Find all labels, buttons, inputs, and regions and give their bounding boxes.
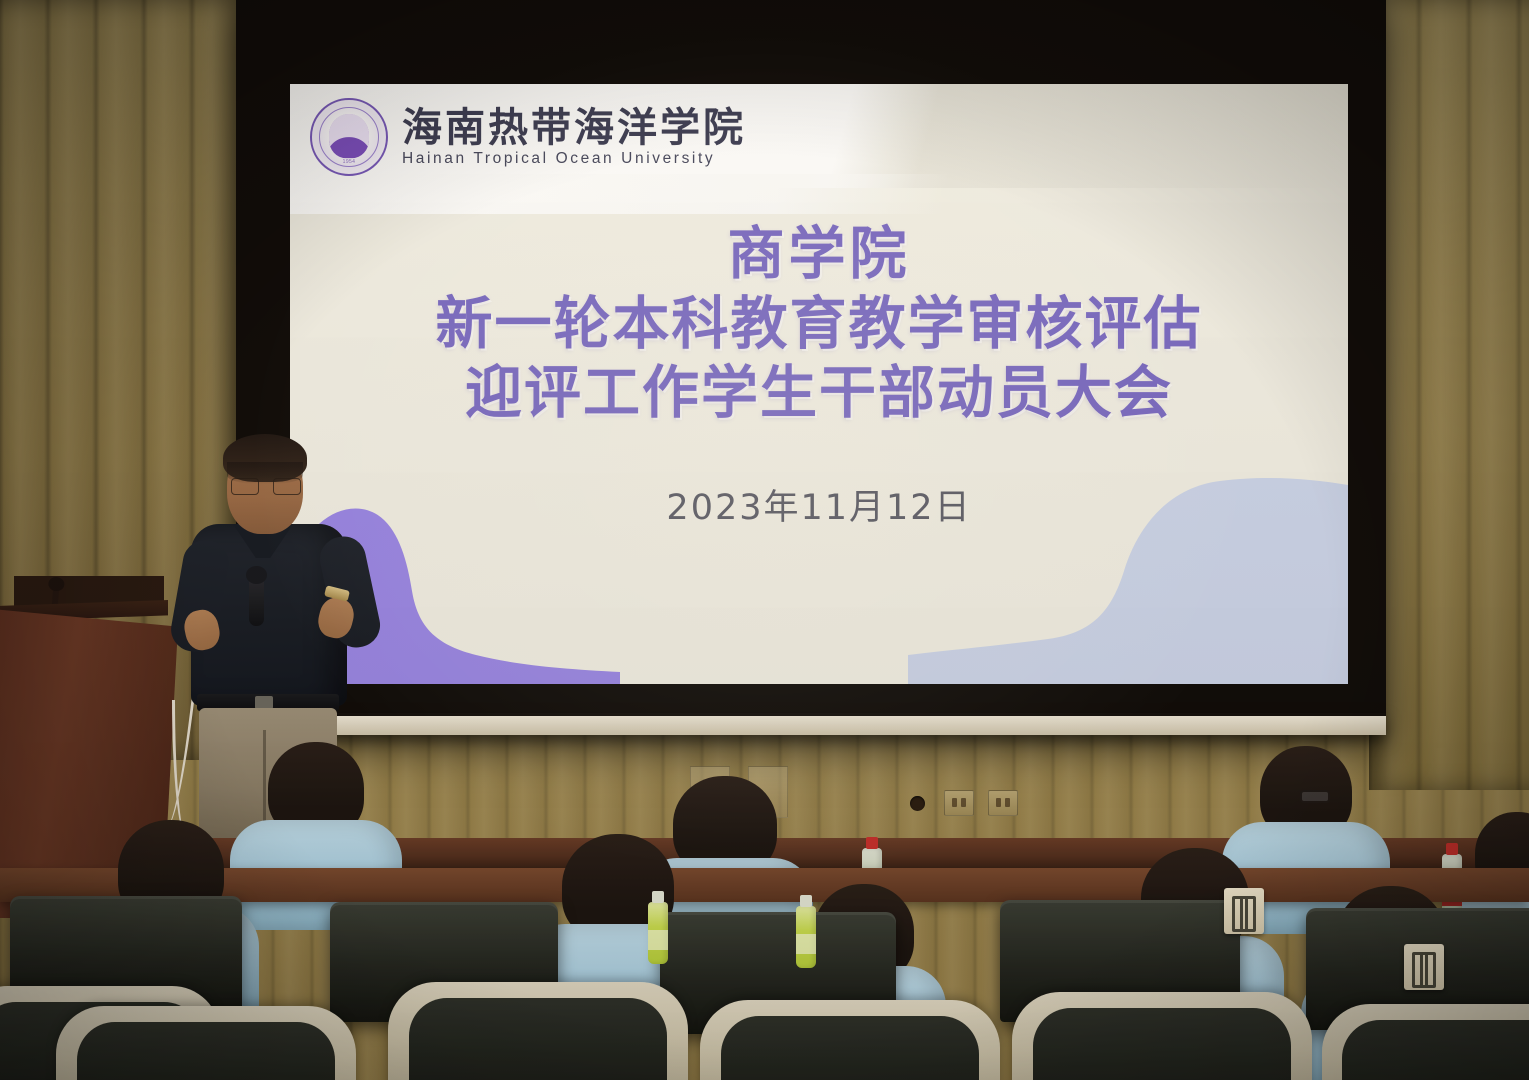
university-logo-lockup: 1954 海南热带海洋学院 Hainan Tropical Ocean Univ…: [310, 98, 746, 176]
wall-outlet: [944, 790, 974, 816]
foreground-chair: [388, 982, 688, 1080]
foreground-chair: [700, 1000, 1000, 1080]
seal-year: 1954: [343, 159, 356, 165]
slide-title-line-1: 商学院: [290, 220, 1348, 290]
projection-screen-bottom-rail: [236, 713, 1386, 735]
university-seal-icon: 1954: [310, 98, 388, 176]
audience-person: [236, 742, 396, 882]
projection-screen-canvas: 1954 海南热带海洋学院 Hainan Tropical Ocean Univ…: [290, 84, 1348, 684]
university-name-en: Hainan Tropical Ocean University: [402, 150, 746, 168]
slide-title-line-3: 迎评工作学生干部动员大会: [290, 359, 1348, 429]
green-tea-bottle: [648, 902, 668, 964]
foreground-chair: [1012, 992, 1312, 1080]
eyeglasses-icon: [230, 478, 302, 493]
handheld-microphone-icon: [249, 576, 264, 626]
wall-hole: [910, 796, 925, 811]
slide-title-block: 商学院 新一轮本科教育教学审核评估 迎评工作学生干部动员大会: [290, 220, 1348, 429]
foreground-chair: [56, 1006, 356, 1080]
projection-screen-frame: 1954 海南热带海洋学院 Hainan Tropical Ocean Univ…: [236, 0, 1386, 734]
slide-title-line-2: 新一轮本科教育教学审核评估: [290, 290, 1348, 360]
seat-number-tag: [1224, 888, 1264, 934]
slide-date: 2023年11月12日: [290, 479, 1348, 530]
green-tea-bottle: [796, 906, 816, 968]
university-name-cn: 海南热带海洋学院: [402, 107, 746, 149]
university-name-block: 海南热带海洋学院 Hainan Tropical Ocean Universit…: [402, 107, 746, 168]
wall-outlet: [988, 790, 1018, 816]
photo-scene: 1954 海南热带海洋学院 Hainan Tropical Ocean Univ…: [0, 0, 1529, 1080]
bottle-label: [796, 934, 816, 954]
bottle-label: [648, 930, 668, 950]
speaker-hair: [223, 434, 307, 482]
seat-number-tag: [1404, 944, 1444, 990]
right-wall: [1369, 0, 1529, 790]
eyeglasses-icon: [1300, 790, 1330, 803]
foreground-chair: [1322, 1004, 1529, 1080]
seal-wave-emblem-icon: [329, 114, 369, 158]
presentation-slide: 1954 海南热带海洋学院 Hainan Tropical Ocean Univ…: [290, 84, 1348, 684]
